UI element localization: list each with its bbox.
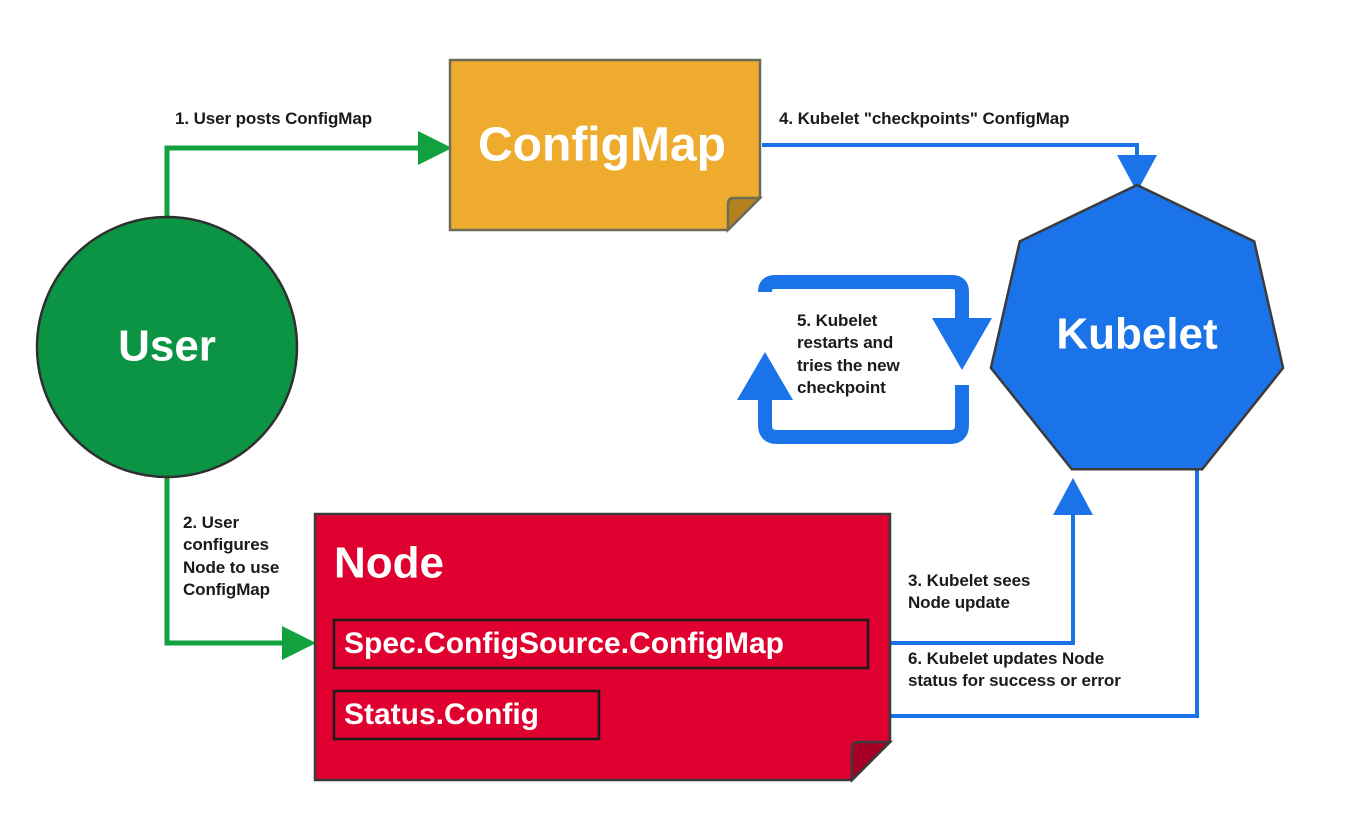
step-2-label: 2. User configures Node to use ConfigMap <box>183 512 279 602</box>
step-1-label: 1. User posts ConfigMap <box>175 108 372 130</box>
user-label: User <box>118 322 216 371</box>
step-3-label: 3. Kubelet sees Node update <box>908 570 1030 615</box>
step-4-label: 4. Kubelet "checkpoints" ConfigMap <box>779 108 1069 130</box>
node-shape-node[interactable]: Node Spec.ConfigSource.ConfigMap Status.… <box>315 514 890 780</box>
kubelet-label: Kubelet <box>1056 310 1218 359</box>
node-shape-configmap[interactable]: ConfigMap <box>450 60 760 230</box>
node-shape-kubelet[interactable]: Kubelet <box>991 185 1283 469</box>
node-field-status-label: Status.Config <box>344 698 539 731</box>
step-5-label: 5. Kubelet restarts and tries the new ch… <box>797 310 900 400</box>
node-shape-user[interactable]: User <box>37 217 297 477</box>
step-6-label: 6. Kubelet updates Node status for succe… <box>908 648 1121 693</box>
node-title: Node <box>334 539 444 588</box>
node-field-spec-label: Spec.ConfigSource.ConfigMap <box>344 627 784 660</box>
arrow-step-4 <box>762 145 1157 192</box>
diagram-canvas: Node Spec.ConfigSource.ConfigMap Status.… <box>0 0 1360 818</box>
configmap-label: ConfigMap <box>478 119 726 172</box>
arrow-step-3 <box>870 478 1093 643</box>
